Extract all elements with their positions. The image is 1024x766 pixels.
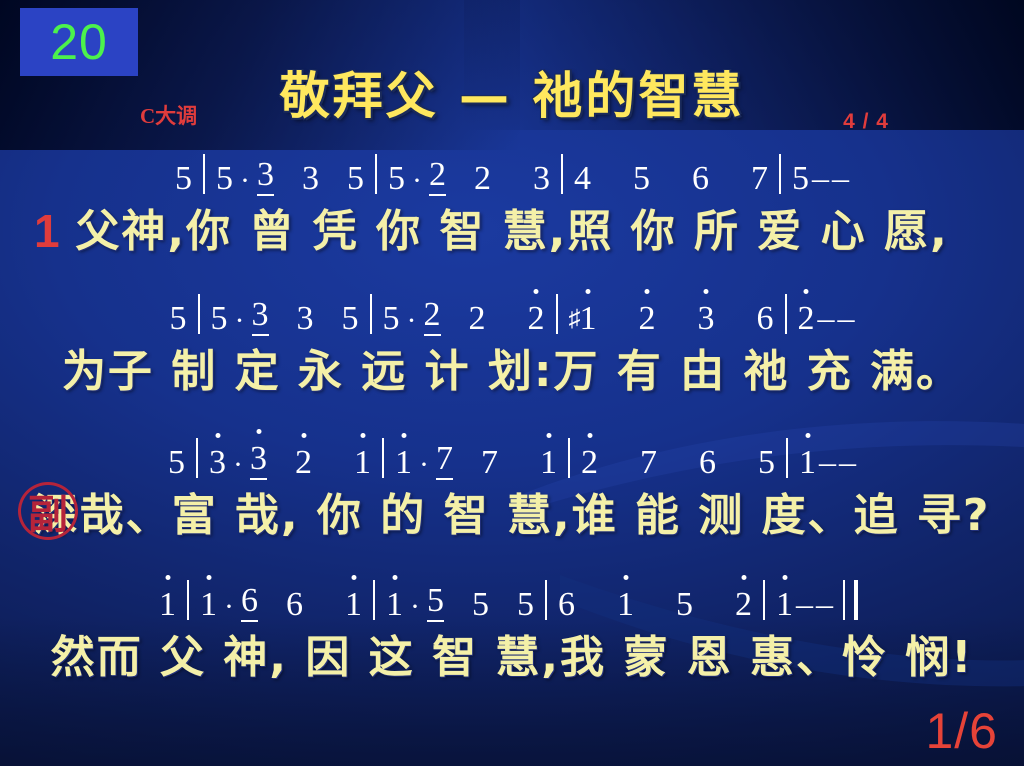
note-degree: 5 — [383, 302, 400, 336]
duration-dash: – — [811, 162, 831, 196]
note: 6 — [690, 162, 711, 196]
note: 2 — [733, 588, 754, 622]
note-degree: 6 — [241, 584, 258, 622]
note-degree: 3 — [533, 162, 550, 196]
note: 1 — [343, 588, 364, 622]
chorus-marker: 副 — [18, 482, 82, 544]
note: 7 — [749, 162, 770, 196]
note: 5 — [386, 162, 407, 196]
augmentation-dot: · — [407, 166, 427, 196]
augmentation-dot: · — [405, 592, 425, 622]
duration-dash: – — [837, 302, 857, 336]
notation-row-4: 11·6611·55561521–– — [0, 574, 1024, 622]
note: 5 — [209, 302, 230, 336]
note: 1 — [198, 588, 219, 622]
verse-number-1: 1 — [34, 208, 60, 254]
note: 5 — [340, 302, 361, 336]
time-signature-label: 4 / 4 — [843, 110, 889, 134]
note: 3 — [248, 442, 269, 480]
note-degree: 1 — [799, 446, 816, 480]
note-degree: 3 — [252, 298, 269, 336]
note-degree: 2 — [424, 298, 441, 336]
music-system-4: 11·6611·55561521–– 然而 父 神, 因 这 智 慧,我 蒙 恩… — [0, 574, 1024, 684]
duration-dash: – — [817, 302, 837, 336]
note-degree: 1 — [617, 588, 634, 622]
note: 5 — [166, 446, 187, 480]
note: 3 — [295, 302, 316, 336]
notation-row-3: 53·3211·77127651–– — [0, 432, 1024, 480]
note-degree: 3 — [250, 442, 267, 480]
note: 6 — [755, 302, 776, 336]
note-degree: 5 — [170, 302, 187, 336]
barline — [196, 438, 198, 478]
note: 5 — [173, 162, 194, 196]
duration-dash: – — [831, 162, 851, 196]
lyrics-row-2: 为子 制 定 永 远 计 划:万 有 由 祂 充 满。 — [0, 336, 1024, 398]
augmentation-dot: · — [230, 306, 250, 336]
note: 5 — [214, 162, 235, 196]
lyrics-row-3: 深哉、富 哉, 你 的 智 慧,谁 能 测 度、追 寻? — [0, 480, 1024, 542]
barline — [373, 580, 375, 620]
note-degree: 7 — [640, 446, 657, 480]
note-degree: 4 — [574, 162, 591, 196]
note-degree: 1 — [345, 588, 362, 622]
note-degree: 5 — [168, 446, 185, 480]
barline — [187, 580, 189, 620]
note: 3 — [255, 158, 276, 196]
barline — [382, 438, 384, 478]
lyrics-row-4: 然而 父 神, 因 这 智 慧,我 蒙 恩 惠、怜 悯! — [0, 622, 1024, 684]
slide-canvas: 20 C大调 敬拜父 — 祂的智慧 4 / 4 55·3355·22345675… — [0, 0, 1024, 766]
note: 1 — [538, 446, 559, 480]
note: 1 — [774, 588, 795, 622]
note: 1 — [393, 446, 414, 480]
note: 2 — [467, 302, 488, 336]
note-degree: 7 — [481, 446, 498, 480]
note-degree: 5 — [676, 588, 693, 622]
note-degree: 2 — [581, 446, 598, 480]
note: ♯1 — [567, 302, 599, 336]
augmentation-dot: · — [228, 450, 248, 480]
note-degree: 7 — [751, 162, 768, 196]
note-degree: 6 — [692, 162, 709, 196]
note-degree: 1 — [200, 588, 217, 622]
note-degree: 1 — [386, 588, 403, 622]
note: 2 — [472, 162, 493, 196]
duration-dash: – — [815, 588, 835, 622]
barline — [785, 294, 787, 334]
note-degree: 2 — [469, 302, 486, 336]
barline — [545, 580, 547, 620]
note: 5 — [674, 588, 695, 622]
note-degree: 2 — [798, 302, 815, 336]
note-degree: 1 — [354, 446, 371, 480]
note-degree: 6 — [286, 588, 303, 622]
barline — [786, 438, 788, 478]
note-degree: 5 — [472, 588, 489, 622]
note: 3 — [207, 446, 228, 480]
note: 5 — [425, 584, 446, 622]
note: 5 — [381, 302, 402, 336]
note: 2 — [427, 158, 448, 196]
note: 5 — [756, 446, 777, 480]
note: 1 — [352, 446, 373, 480]
barline — [370, 294, 372, 334]
note-degree: 3 — [297, 302, 314, 336]
note-degree: 1 — [395, 446, 412, 480]
note: 2 — [579, 446, 600, 480]
note: 6 — [697, 446, 718, 480]
note-degree: 5 — [758, 446, 775, 480]
note-degree: 3 — [698, 302, 715, 336]
note-degree: 3 — [302, 162, 319, 196]
chorus-marker-label: 副 — [18, 482, 78, 540]
note: 1 — [384, 588, 405, 622]
note-degree: 2 — [474, 162, 491, 196]
notation-row-2: 55·3355·222♯12362–– — [0, 288, 1024, 336]
barline — [375, 154, 377, 194]
note-degree: 6 — [558, 588, 575, 622]
note: 3 — [696, 302, 717, 336]
duration-dash: – — [818, 446, 838, 480]
note: 2 — [526, 302, 547, 336]
lyrics-row-1: 父神,你 曾 凭 你 智 慧,照 你 所 爱 心 愿, — [0, 196, 1024, 258]
barline — [763, 580, 765, 620]
augmentation-dot: · — [235, 166, 255, 196]
note-degree: 5 — [792, 162, 809, 196]
note: 5 — [345, 162, 366, 196]
note: 2 — [796, 302, 817, 336]
barline — [556, 294, 558, 334]
note-degree: 2 — [735, 588, 752, 622]
note: 1 — [157, 588, 178, 622]
note-degree: 5 — [388, 162, 405, 196]
music-system-1: 55·3355·22345675–– 父神,你 曾 凭 你 智 慧,照 你 所 … — [0, 148, 1024, 258]
note: 7 — [479, 446, 500, 480]
note-degree: 5 — [347, 162, 364, 196]
note-degree: 1 — [580, 302, 597, 336]
note: 6 — [284, 588, 305, 622]
note-degree: 6 — [757, 302, 774, 336]
note-degree: 1 — [159, 588, 176, 622]
note: 5 — [470, 588, 491, 622]
note-degree: 5 — [216, 162, 233, 196]
note: 2 — [422, 298, 443, 336]
note-degree: 1 — [540, 446, 557, 480]
note-degree: 5 — [342, 302, 359, 336]
note: 1 — [797, 446, 818, 480]
note-degree: 5 — [175, 162, 192, 196]
notation-row-1: 55·3355·22345675–– — [0, 148, 1024, 196]
note: 3 — [531, 162, 552, 196]
barline — [198, 294, 200, 334]
augmentation-dot: · — [219, 592, 239, 622]
note: 6 — [556, 588, 577, 622]
note: 5 — [631, 162, 652, 196]
note: 5 — [168, 302, 189, 336]
note-degree: 5 — [211, 302, 228, 336]
note: 2 — [637, 302, 658, 336]
music-system-3: 53·3211·77127651–– 深哉、富 哉, 你 的 智 慧,谁 能 测… — [0, 432, 1024, 542]
note: 5 — [515, 588, 536, 622]
note-degree: 5 — [633, 162, 650, 196]
note: 7 — [638, 446, 659, 480]
note-degree: 2 — [429, 158, 446, 196]
duration-dash: – — [795, 588, 815, 622]
note-degree: 2 — [639, 302, 656, 336]
note-degree: 2 — [528, 302, 545, 336]
note: 1 — [615, 588, 636, 622]
note-degree: 1 — [776, 588, 793, 622]
page-number: 1/6 — [925, 702, 998, 760]
augmentation-dot: · — [414, 450, 434, 480]
note-degree: 2 — [295, 446, 312, 480]
note: 4 — [572, 162, 593, 196]
final-barline — [843, 580, 858, 620]
barline — [203, 154, 205, 194]
note: 3 — [300, 162, 321, 196]
note-degree: 5 — [517, 588, 534, 622]
augmentation-dot: · — [402, 306, 422, 336]
note: 7 — [434, 442, 455, 480]
note-degree: 3 — [257, 158, 274, 196]
note-degree: 3 — [209, 446, 226, 480]
barline — [561, 154, 563, 194]
barline — [779, 154, 781, 194]
note: 2 — [293, 446, 314, 480]
music-system-2: 55·3355·222♯12362–– 为子 制 定 永 远 计 划:万 有 由… — [0, 288, 1024, 398]
note-degree: 5 — [427, 584, 444, 622]
note: 5 — [790, 162, 811, 196]
note: 3 — [250, 298, 271, 336]
barline — [568, 438, 570, 478]
duration-dash: – — [838, 446, 858, 480]
note-degree: 7 — [436, 442, 453, 480]
note: 6 — [239, 584, 260, 622]
note-degree: 6 — [699, 446, 716, 480]
